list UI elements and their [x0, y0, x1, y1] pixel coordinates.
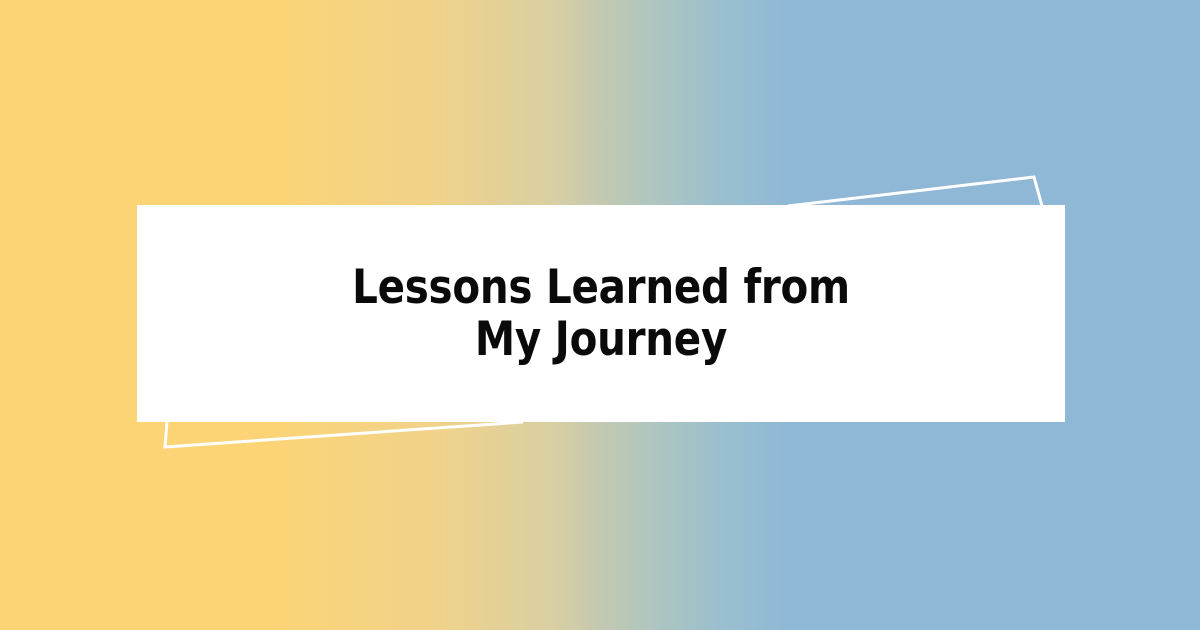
title-card-canvas: Lessons Learned from My Journey [0, 0, 1200, 630]
title-card: Lessons Learned from My Journey [137, 205, 1065, 422]
title-line-1: Lessons Learned from [236, 262, 965, 314]
title-line-2: My Journey [236, 314, 965, 366]
title-text-block: Lessons Learned from My Journey [137, 262, 1065, 366]
